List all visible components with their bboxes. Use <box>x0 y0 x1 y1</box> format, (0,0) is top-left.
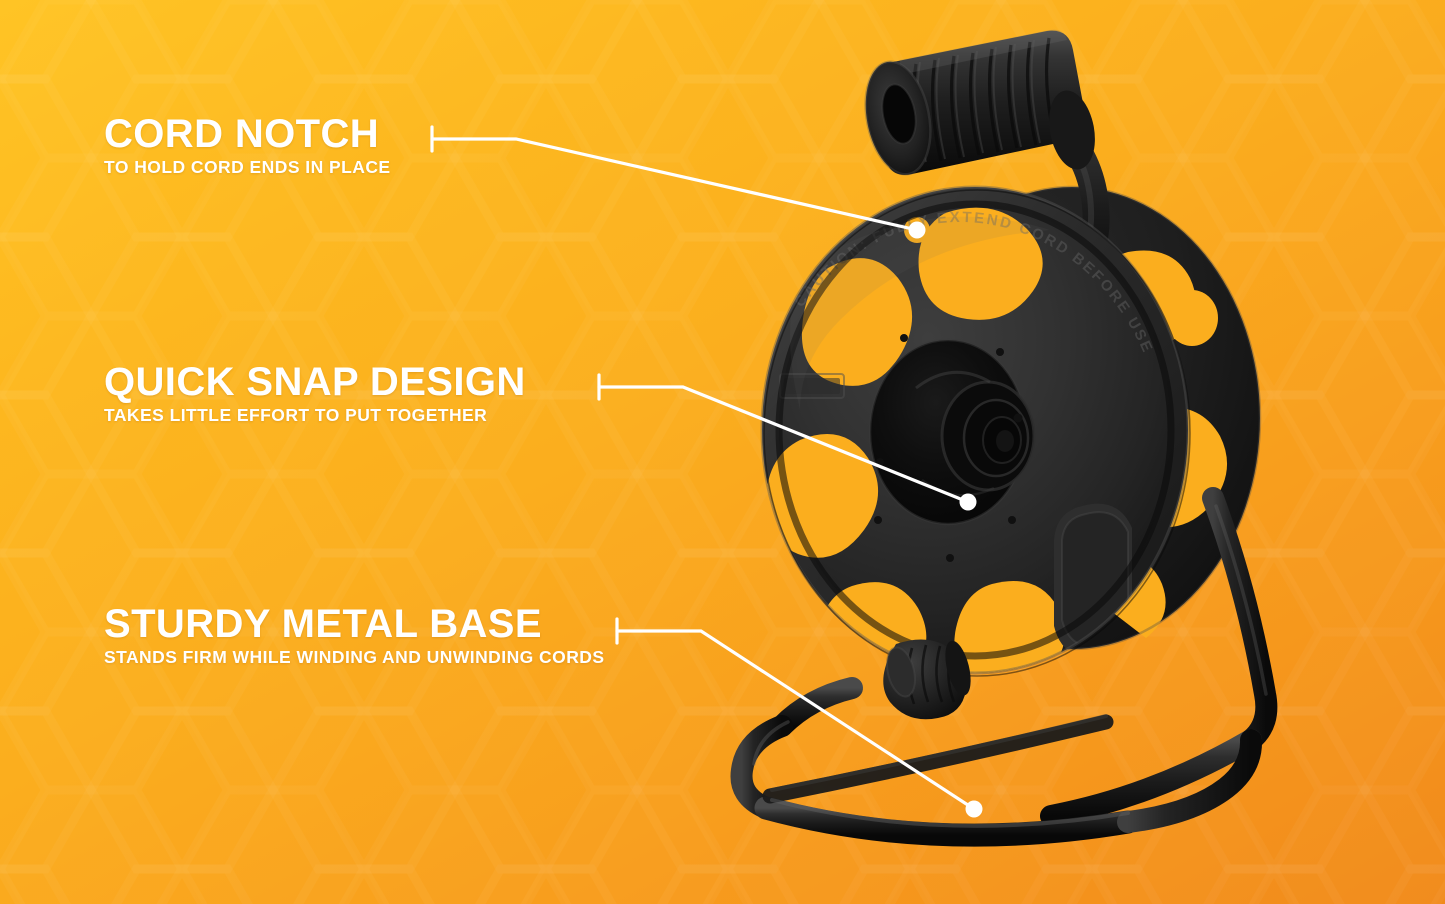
leader-quick-snap <box>599 375 968 502</box>
callout-heading: QUICK SNAP DESIGN <box>104 362 526 402</box>
leader-endpoint-quick-snap <box>960 494 977 511</box>
leader-endpoint-metal-base <box>966 801 983 818</box>
back-reel-flange <box>884 187 1260 649</box>
leader-endpoint-cord-notch <box>909 222 926 239</box>
callout-subheading: TAKES LITTLE EFFORT TO PUT TOGETHER <box>104 407 526 425</box>
raised-oval-boss <box>1054 504 1132 657</box>
callout-heading: STURDY METAL BASE <box>104 604 605 644</box>
front-reel-flange: CAUTION: FULLY EXTEND CORD BEFORE USE <box>762 187 1190 747</box>
screw-dimples <box>874 334 1023 562</box>
metal-tube-base-stand <box>742 498 1267 835</box>
callout-metal-base: STURDY METAL BASE STANDS FIRM WHILE WIND… <box>104 604 605 667</box>
leader-metal-base <box>617 619 974 809</box>
callout-subheading: STANDS FIRM WHILE WINDING AND UNWINDING … <box>104 649 605 667</box>
callout-heading: CORD NOTCH <box>104 114 391 154</box>
embossed-rim-text: CAUTION: FULLY EXTEND CORD BEFORE USE <box>791 209 1165 510</box>
cord-notch-hole <box>904 217 930 243</box>
infographic-canvas: CAUTION: FULLY EXTEND CORD BEFORE USE <box>0 0 1445 904</box>
callout-subheading: TO HOLD CORD ENDS IN PLACE <box>104 159 391 177</box>
callout-cord-notch: CORD NOTCH TO HOLD CORD ENDS IN PLACE <box>104 114 391 177</box>
center-hub <box>870 340 1034 524</box>
embossed-logo <box>780 374 844 398</box>
callout-quick-snap: QUICK SNAP DESIGN TAKES LITTLE EFFORT TO… <box>104 362 526 425</box>
svg-text:CAUTION: FULLY EXTEND CORD BEF: CAUTION: FULLY EXTEND CORD BEFORE USE <box>791 209 1156 357</box>
knurled-locking-knob <box>882 638 975 719</box>
leader-cord-notch <box>432 127 917 230</box>
flange-cutouts <box>766 208 1130 699</box>
raised-oval-boss-lower <box>1026 660 1090 746</box>
handle-stem <box>1035 106 1096 290</box>
rubber-grip-handle <box>857 30 1102 180</box>
